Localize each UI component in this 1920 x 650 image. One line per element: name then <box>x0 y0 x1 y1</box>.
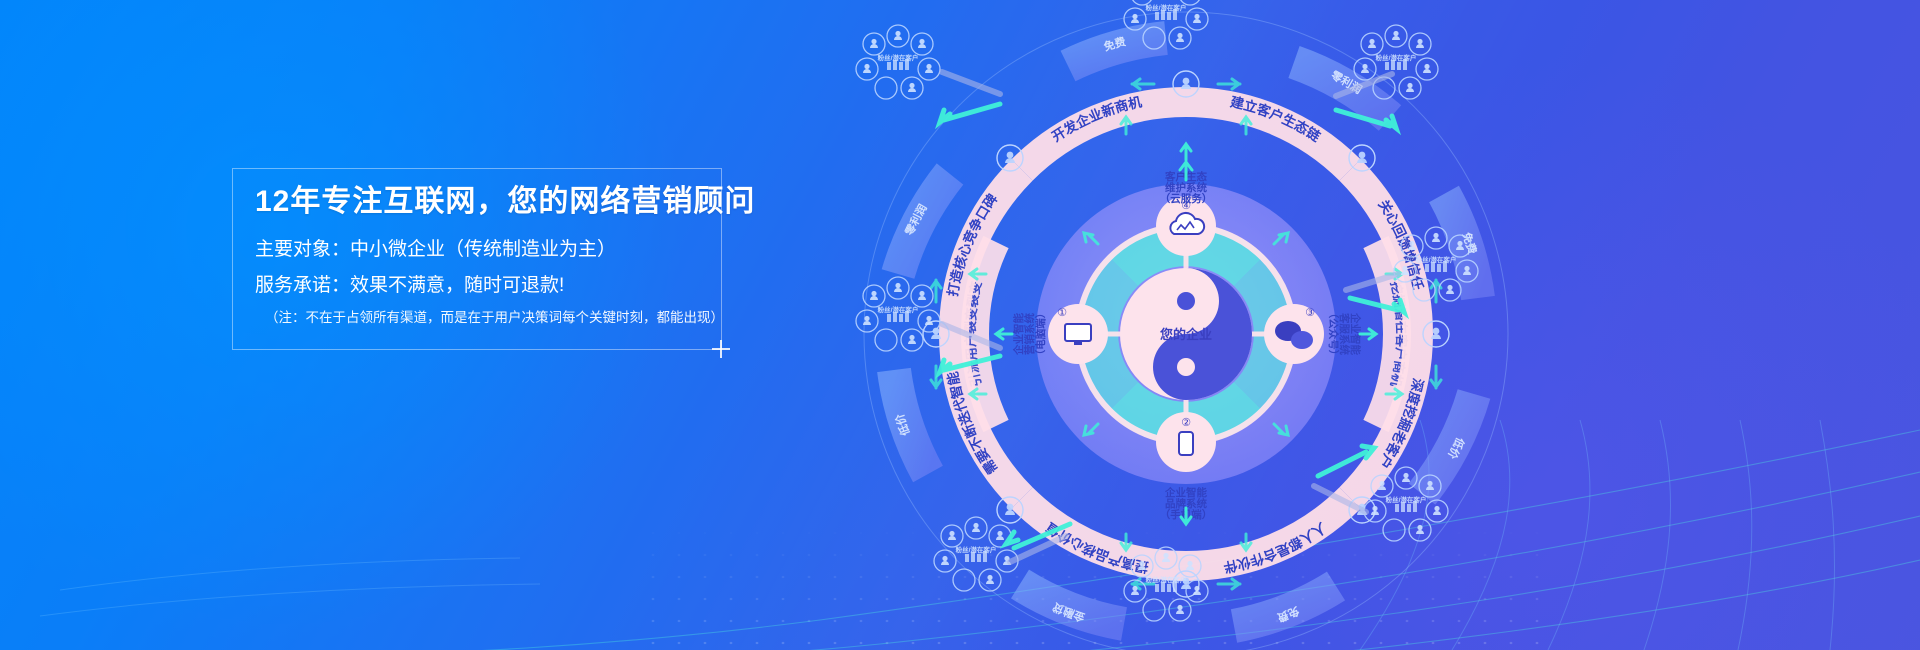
satellite-label-0: 粉丝/潜在客户 <box>878 53 919 62</box>
satellite-labels: 粉丝/潜在客户 粉丝/潜在客户 粉丝/潜在客户 粉丝/潜在客户 粉丝/潜在客户 … <box>878 3 1457 584</box>
satellite-label-2: 粉丝/潜在客户 <box>956 545 997 554</box>
satellite-clusters: 粉丝/潜在客户 粉丝/潜在客户 粉丝/潜在客户 粉丝/潜在客户 粉丝/潜在客户 … <box>606 0 1766 650</box>
satellite-label-5: 粉丝/潜在客户 <box>1416 255 1457 264</box>
marketing-ecosystem-diagram: 免费 零利润 免费 低价 免费 金融贷 低价 零利润 挖掘潜在客户商机 <box>836 0 1536 650</box>
cluster-arrows <box>940 72 1404 562</box>
satellite-label-3: 粉丝/潜在客户 <box>1146 3 1187 12</box>
satellite-label-7: 粉丝/潜在客户 <box>1146 575 1187 584</box>
satellite-label-4: 粉丝/潜在客户 <box>1376 53 1417 62</box>
marketing-banner: 12年专注互联网，您的网络营销顾问 主要对象：中小微企业（传统制造业为主） 服务… <box>0 0 1920 650</box>
satellite-label-6: 粉丝/潜在客户 <box>1386 495 1427 504</box>
satellite-label-1: 粉丝/潜在客户 <box>878 305 919 314</box>
